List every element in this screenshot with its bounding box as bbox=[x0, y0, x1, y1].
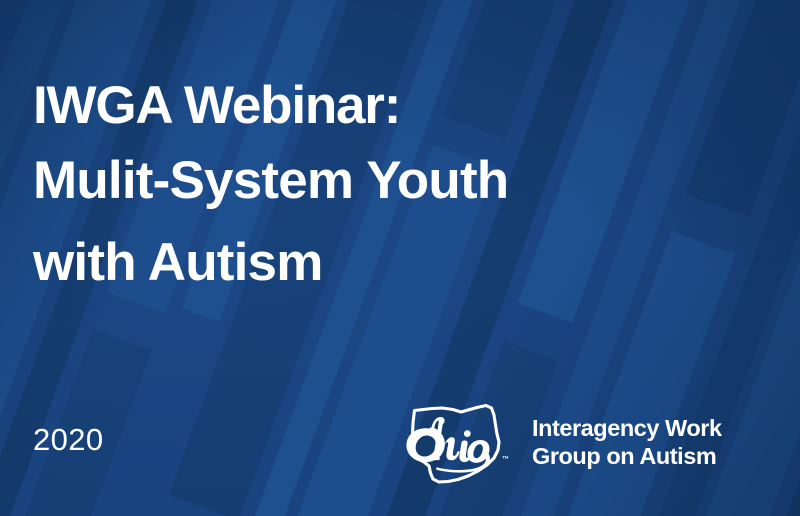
title-slide: IWGA Webinar: Mulit-System Youth with Au… bbox=[0, 0, 800, 516]
title-line-3: with Autism bbox=[33, 222, 755, 304]
organization-name-line-2: Group on Autism bbox=[532, 442, 722, 470]
trademark-mark: ™ bbox=[502, 456, 509, 463]
title-line-2: Mulit-System Youth bbox=[33, 140, 755, 222]
title-line-1: IWGA Webinar: bbox=[33, 72, 755, 140]
organization-name: Interagency Work Group on Autism bbox=[532, 414, 722, 470]
ohio-state-outline-icon bbox=[398, 396, 510, 488]
ohio-logo: ™ bbox=[398, 396, 510, 488]
organization-name-line-1: Interagency Work bbox=[532, 414, 722, 442]
ohio-iwga-logo-lockup: ™ Interagency Work Group on Autism bbox=[398, 396, 722, 488]
year-label: 2020 bbox=[33, 420, 104, 460]
slide-title: IWGA Webinar: Mulit-System Youth with Au… bbox=[33, 72, 755, 304]
